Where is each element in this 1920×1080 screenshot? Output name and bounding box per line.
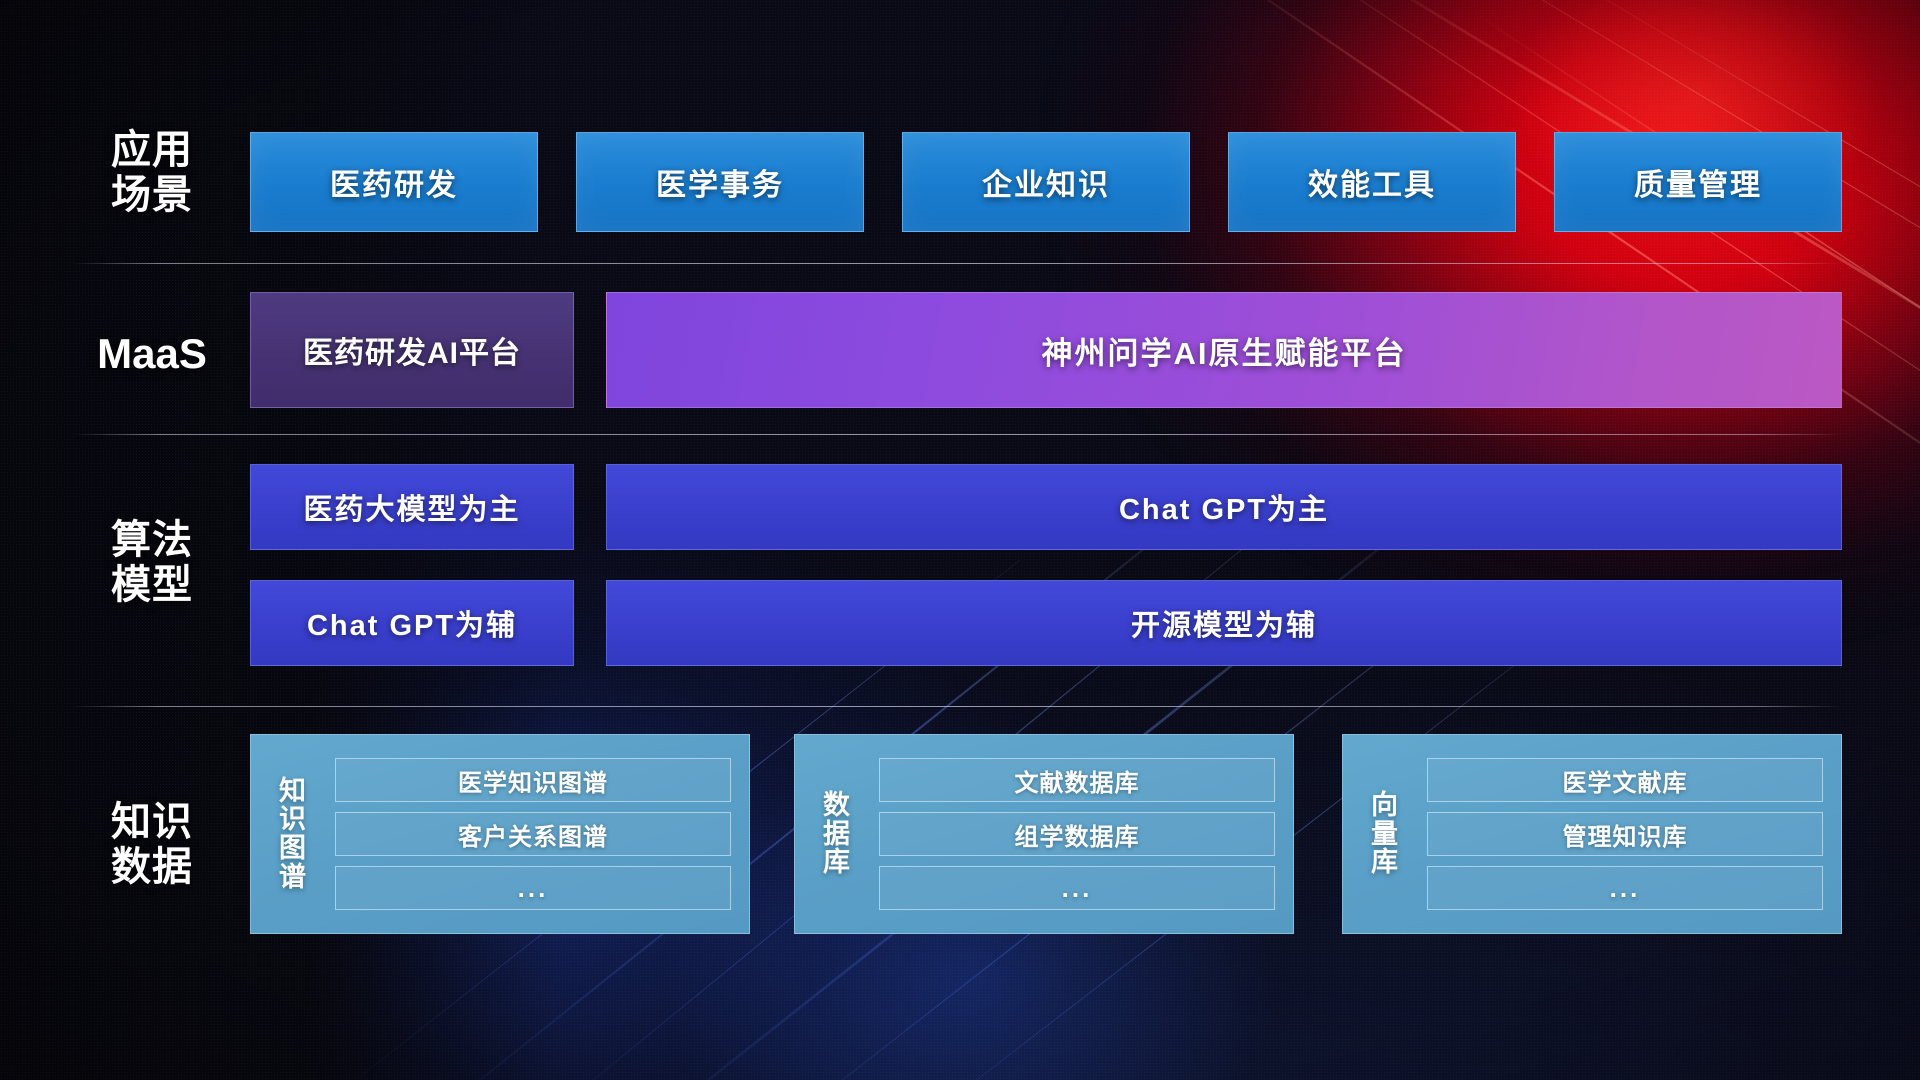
knowledge-item-more[interactable]: ... xyxy=(1427,866,1823,910)
knowledge-item[interactable]: 医学知识图谱 xyxy=(335,758,731,802)
app-scenario-box-4[interactable]: 效能工具 xyxy=(1228,132,1516,232)
algorithm-secondary-general-label: 开源模型为辅 xyxy=(1131,602,1317,644)
algorithm-primary-domain-box[interactable]: 医药大模型为主 xyxy=(250,464,574,550)
maas-platform-box[interactable]: 医药研发AI平台 xyxy=(250,292,574,408)
algorithm-primary-domain-label: 医药大模型为主 xyxy=(303,486,520,528)
knowledge-items-knowledge-graph: 医学知识图谱 客户关系图谱 ... xyxy=(335,735,749,933)
app-scenario-label-3: 企业知识 xyxy=(982,160,1110,204)
row-label-application: 应用 场景 xyxy=(72,128,232,218)
row-label-application-line2: 场景 xyxy=(72,173,232,218)
vlabel-char: 库 xyxy=(823,848,851,877)
knowledge-group-database[interactable]: 数 据 库 文献数据库 组学数据库 ... xyxy=(794,734,1294,934)
row-label-knowledge-line2: 数据 xyxy=(72,845,232,890)
knowledge-item-label: 管理知识库 xyxy=(1563,817,1688,852)
vlabel-char: 向 xyxy=(1371,791,1399,820)
row-label-knowledge: 知识 数据 xyxy=(72,800,232,890)
divider-application-maas xyxy=(72,263,1842,264)
knowledge-item-more[interactable]: ... xyxy=(879,866,1275,910)
app-scenario-box-3[interactable]: 企业知识 xyxy=(902,132,1190,232)
maas-enablement-banner[interactable]: 神州问学AI原生赋能平台 xyxy=(606,292,1842,408)
vlabel-char: 据 xyxy=(823,820,851,849)
row-label-maas: MaaS xyxy=(72,330,232,377)
vlabel-char: 库 xyxy=(1371,848,1399,877)
app-scenario-label-5: 质量管理 xyxy=(1634,160,1762,204)
algorithm-secondary-domain-label: Chat GPT为辅 xyxy=(307,602,517,644)
app-scenario-label-1: 医药研发 xyxy=(330,160,458,204)
algorithm-secondary-general-box[interactable]: 开源模型为辅 xyxy=(606,580,1842,666)
knowledge-group-vector-store[interactable]: 向 量 库 医学文献库 管理知识库 ... xyxy=(1342,734,1842,934)
knowledge-item[interactable]: 管理知识库 xyxy=(1427,812,1823,856)
knowledge-group-label-knowledge-graph: 知 识 图 谱 xyxy=(251,735,335,933)
divider-algorithm-knowledge xyxy=(72,706,1842,707)
row-label-algorithm-line1: 算法 xyxy=(72,518,232,563)
app-scenario-box-5[interactable]: 质量管理 xyxy=(1554,132,1842,232)
knowledge-item-more[interactable]: ... xyxy=(335,866,731,910)
knowledge-item-label: 医学文献库 xyxy=(1563,763,1688,798)
vlabel-char: 数 xyxy=(823,791,851,820)
knowledge-item[interactable]: 医学文献库 xyxy=(1427,758,1823,802)
maas-enablement-label: 神州问学AI原生赋能平台 xyxy=(1042,328,1407,373)
knowledge-item[interactable]: 客户关系图谱 xyxy=(335,812,731,856)
app-scenario-label-2: 医学事务 xyxy=(656,160,784,204)
knowledge-group-label-vector-store: 向 量 库 xyxy=(1343,735,1427,933)
vlabel-char: 量 xyxy=(1371,820,1399,849)
vlabel-char: 知 xyxy=(279,777,307,806)
row-label-maas-text: MaaS xyxy=(72,330,232,377)
algorithm-primary-general-label: Chat GPT为主 xyxy=(1119,486,1329,528)
knowledge-item-label: 组学数据库 xyxy=(1015,817,1140,852)
knowledge-group-label-database: 数 据 库 xyxy=(795,735,879,933)
vlabel-char: 识 xyxy=(279,805,307,834)
knowledge-item-label: 医学知识图谱 xyxy=(458,763,608,798)
knowledge-item[interactable]: 组学数据库 xyxy=(879,812,1275,856)
knowledge-items-database: 文献数据库 组学数据库 ... xyxy=(879,735,1293,933)
app-scenario-box-2[interactable]: 医学事务 xyxy=(576,132,864,232)
maas-platform-label: 医药研发AI平台 xyxy=(303,328,521,372)
knowledge-items-vector-store: 医学文献库 管理知识库 ... xyxy=(1427,735,1841,933)
vlabel-char: 图 xyxy=(279,834,307,863)
row-label-algorithm-line2: 模型 xyxy=(72,563,232,608)
knowledge-item-label: ... xyxy=(1062,873,1093,904)
knowledge-item-label: ... xyxy=(518,873,549,904)
knowledge-item-label: 文献数据库 xyxy=(1015,763,1140,798)
vlabel-char: 谱 xyxy=(279,863,307,892)
knowledge-group-knowledge-graph[interactable]: 知 识 图 谱 医学知识图谱 客户关系图谱 ... xyxy=(250,734,750,934)
app-scenario-label-4: 效能工具 xyxy=(1308,160,1436,204)
row-label-application-line1: 应用 xyxy=(72,128,232,173)
app-scenario-box-1[interactable]: 医药研发 xyxy=(250,132,538,232)
row-label-algorithm: 算法 模型 xyxy=(72,518,232,608)
divider-maas-algorithm xyxy=(72,434,1842,435)
algorithm-primary-general-box[interactable]: Chat GPT为主 xyxy=(606,464,1842,550)
knowledge-item-label: 客户关系图谱 xyxy=(458,817,608,852)
knowledge-item-label: ... xyxy=(1610,873,1641,904)
algorithm-secondary-domain-box[interactable]: Chat GPT为辅 xyxy=(250,580,574,666)
knowledge-item[interactable]: 文献数据库 xyxy=(879,758,1275,802)
row-label-knowledge-line1: 知识 xyxy=(72,800,232,845)
